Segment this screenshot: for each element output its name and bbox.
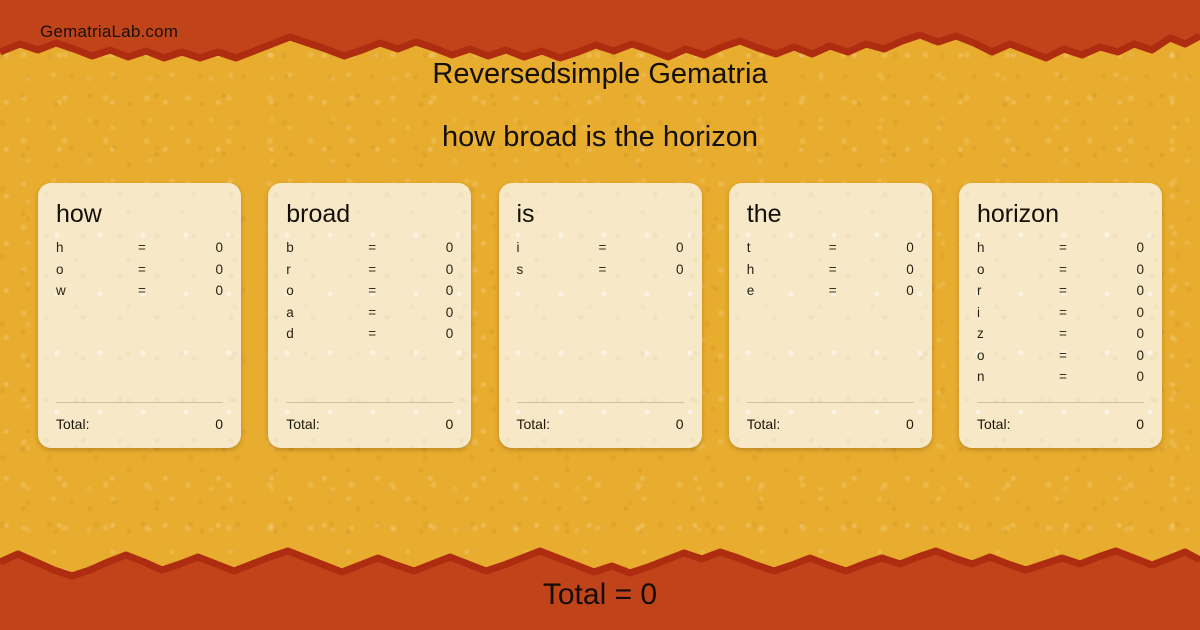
letter-value: 0	[190, 262, 223, 277]
word-card-footer: Total:0	[747, 402, 914, 432]
word-card: thet=0h=0e=0Total:0	[729, 183, 932, 448]
letter-row: i=0	[977, 305, 1144, 327]
letter-rows: h=0o=0r=0i=0z=0o=0n=0	[977, 240, 1144, 391]
letter-label: o	[286, 283, 368, 298]
word-card: howh=0o=0w=0Total:0	[38, 183, 241, 448]
equals-sign: =	[1059, 369, 1111, 384]
equals-sign: =	[138, 262, 190, 277]
card-total-value: 0	[906, 416, 914, 432]
card-total-label: Total:	[517, 416, 550, 432]
word-card-title: the	[747, 199, 914, 229]
letter-row: s=0	[517, 262, 684, 284]
word-card: broadb=0r=0o=0a=0d=0Total:0	[268, 183, 471, 448]
letter-value: 0	[190, 240, 223, 255]
letter-label: o	[977, 262, 1059, 277]
letter-row: a=0	[286, 305, 453, 327]
letter-value: 0	[420, 283, 453, 298]
letter-value: 0	[420, 240, 453, 255]
card-total-value: 0	[1136, 416, 1144, 432]
letter-row: h=0	[56, 240, 223, 262]
letter-label: t	[747, 240, 829, 255]
letter-row: r=0	[977, 283, 1144, 305]
card-divider	[517, 402, 684, 403]
word-card-footer: Total:0	[56, 402, 223, 432]
letter-value: 0	[1111, 326, 1144, 341]
word-cards-container: howh=0o=0w=0Total:0broadb=0r=0o=0a=0d=0T…	[38, 183, 1162, 448]
word-card: horizonh=0o=0r=0i=0z=0o=0n=0Total:0	[959, 183, 1162, 448]
letter-row: r=0	[286, 262, 453, 284]
letter-rows: t=0h=0e=0	[747, 240, 914, 305]
letter-value: 0	[1111, 262, 1144, 277]
equals-sign: =	[829, 283, 881, 298]
card-divider	[56, 402, 223, 403]
card-total-row: Total:0	[977, 416, 1144, 432]
letter-label: i	[517, 240, 599, 255]
letter-label: b	[286, 240, 368, 255]
letter-value: 0	[881, 240, 914, 255]
letter-row: h=0	[977, 240, 1144, 262]
site-logo[interactable]: GematriaLab.com	[40, 22, 178, 42]
card-total-value: 0	[445, 416, 453, 432]
letter-row: d=0	[286, 326, 453, 348]
word-card-title: broad	[286, 199, 453, 229]
equals-sign: =	[138, 283, 190, 298]
letter-value: 0	[651, 262, 684, 277]
phrase-heading: how broad is the horizon	[0, 121, 1200, 154]
page-title: Reversedsimple Gematria	[0, 58, 1200, 91]
letter-row: b=0	[286, 240, 453, 262]
word-card-title: how	[56, 199, 223, 229]
equals-sign: =	[1059, 262, 1111, 277]
equals-sign: =	[599, 240, 651, 255]
card-divider	[747, 402, 914, 403]
letter-label: d	[286, 326, 368, 341]
equals-sign: =	[599, 262, 651, 277]
letter-row: z=0	[977, 326, 1144, 348]
letter-label: w	[56, 283, 138, 298]
equals-sign: =	[1059, 240, 1111, 255]
card-total-label: Total:	[286, 416, 319, 432]
card-total-row: Total:0	[517, 416, 684, 432]
letter-row: o=0	[977, 262, 1144, 284]
letter-rows: i=0s=0	[517, 240, 684, 283]
letter-row: o=0	[56, 262, 223, 284]
letter-value: 0	[420, 262, 453, 277]
equals-sign: =	[368, 283, 420, 298]
letter-row: o=0	[286, 283, 453, 305]
letter-row: e=0	[747, 283, 914, 305]
letter-value: 0	[420, 305, 453, 320]
letter-value: 0	[881, 283, 914, 298]
equals-sign: =	[1059, 283, 1111, 298]
letter-label: o	[977, 348, 1059, 363]
letter-label: r	[977, 283, 1059, 298]
card-total-row: Total:0	[56, 416, 223, 432]
letter-label: o	[56, 262, 138, 277]
equals-sign: =	[368, 326, 420, 341]
letter-row: o=0	[977, 348, 1144, 370]
letter-row: w=0	[56, 283, 223, 305]
letter-row: n=0	[977, 369, 1144, 391]
letter-value: 0	[190, 283, 223, 298]
word-card: isi=0s=0Total:0	[499, 183, 702, 448]
equals-sign: =	[138, 240, 190, 255]
letter-label: n	[977, 369, 1059, 384]
letter-value: 0	[1111, 283, 1144, 298]
equals-sign: =	[1059, 348, 1111, 363]
letter-label: h	[747, 262, 829, 277]
card-total-value: 0	[676, 416, 684, 432]
letter-rows: h=0o=0w=0	[56, 240, 223, 305]
word-card-title: horizon	[977, 199, 1144, 229]
letter-row: h=0	[747, 262, 914, 284]
equals-sign: =	[368, 240, 420, 255]
word-card-footer: Total:0	[977, 402, 1144, 432]
equals-sign: =	[1059, 326, 1111, 341]
letter-label: z	[977, 326, 1059, 341]
letter-row: t=0	[747, 240, 914, 262]
card-total-label: Total:	[56, 416, 89, 432]
card-total-label: Total:	[977, 416, 1010, 432]
letter-value: 0	[1111, 369, 1144, 384]
grand-total: Total = 0	[0, 578, 1200, 612]
letter-row: i=0	[517, 240, 684, 262]
equals-sign: =	[1059, 305, 1111, 320]
letter-label: h	[56, 240, 138, 255]
card-total-row: Total:0	[747, 416, 914, 432]
word-card-title: is	[517, 199, 684, 229]
letter-value: 0	[420, 326, 453, 341]
card-total-value: 0	[215, 416, 223, 432]
letter-rows: b=0r=0o=0a=0d=0	[286, 240, 453, 348]
letter-value: 0	[1111, 348, 1144, 363]
letter-label: i	[977, 305, 1059, 320]
letter-value: 0	[881, 262, 914, 277]
letter-label: a	[286, 305, 368, 320]
letter-label: h	[977, 240, 1059, 255]
card-divider	[286, 402, 453, 403]
card-divider	[977, 402, 1144, 403]
equals-sign: =	[368, 262, 420, 277]
equals-sign: =	[829, 240, 881, 255]
letter-value: 0	[1111, 305, 1144, 320]
letter-value: 0	[651, 240, 684, 255]
letter-value: 0	[1111, 240, 1144, 255]
card-total-row: Total:0	[286, 416, 453, 432]
card-total-label: Total:	[747, 416, 780, 432]
letter-label: e	[747, 283, 829, 298]
equals-sign: =	[368, 305, 420, 320]
equals-sign: =	[829, 262, 881, 277]
letter-label: r	[286, 262, 368, 277]
word-card-footer: Total:0	[517, 402, 684, 432]
letter-label: s	[517, 262, 599, 277]
word-card-footer: Total:0	[286, 402, 453, 432]
